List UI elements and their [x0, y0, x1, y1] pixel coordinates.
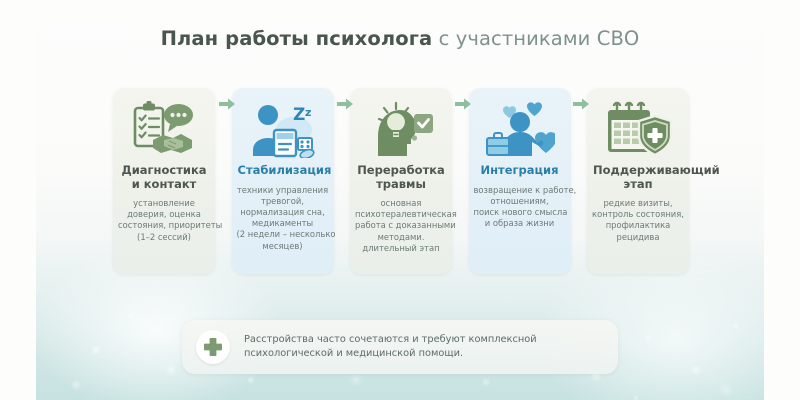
title-line: этап	[623, 177, 652, 191]
stage-card-row: Диагностика и контакт установление довер…	[113, 88, 689, 296]
desc-line: месяцев)	[237, 241, 329, 252]
desc-line: (2 недели – несколько	[237, 229, 329, 240]
svg-text:z: z	[305, 106, 311, 119]
desc-line: рецидива	[592, 232, 684, 243]
title-line: Диагностика	[121, 163, 206, 177]
title-line: и контакт	[132, 177, 197, 191]
desc-line: установление	[118, 198, 210, 209]
title-line: Поддерживающий	[593, 163, 720, 177]
desc-line: методами.	[355, 232, 447, 243]
title-line: Стабилизация	[238, 163, 332, 177]
calendar-shield-cross-icon	[591, 98, 685, 160]
stage-card-integraciya[interactable]: Интеграция возвращение к работе, отношен…	[469, 88, 571, 274]
page-title-light: с участниками СВО	[432, 27, 639, 50]
desc-line: работа с доказанными	[355, 220, 447, 231]
stage-card-description: установление доверия, оценка состояния, …	[117, 198, 211, 243]
desc-line: длительный этап	[355, 243, 447, 254]
title-line: Интеграция	[480, 163, 558, 177]
desc-line: отношениям,	[474, 196, 566, 207]
head-lightbulb-check-icon	[354, 98, 448, 160]
stage-card-description: техники управления тревогой, нормализаци…	[236, 185, 330, 252]
desc-line: состояния, приоритеты	[118, 220, 210, 231]
desc-line: и образа жизни	[474, 218, 566, 229]
title-line: Переработка	[357, 163, 445, 177]
desc-line: основная	[355, 198, 447, 209]
stage-card-title: Переработка травмы	[354, 164, 448, 191]
infographic-canvas: План работы психолога с участниками СВО	[0, 0, 800, 400]
arrow-right-icon	[337, 98, 353, 110]
stage-card-podderzhivayushchiy-etap[interactable]: Поддерживающий этап редкие визиты, контр…	[587, 88, 689, 274]
stage-card-stabilizaciya[interactable]: Z z	[232, 88, 334, 274]
stage-card-title: Интеграция	[473, 164, 567, 178]
desc-line: нормализация сна,	[237, 207, 329, 218]
person-hearts-briefcase-icon	[473, 98, 567, 160]
svg-text:Z: Z	[293, 105, 305, 125]
footer-note-text: Расстройства часто сочетаются и требуют …	[244, 333, 537, 362]
stage-card-title: Стабилизация	[236, 164, 330, 178]
desc-line: техники управления	[237, 185, 329, 196]
page-title-strong: План работы психолога	[161, 27, 433, 50]
page-title: План работы психолога с участниками СВО	[0, 27, 800, 50]
banner-line: Расстройства часто сочетаются и требуют …	[244, 333, 537, 348]
footer-note-banner: Расстройства часто сочетаются и требуют …	[182, 320, 618, 374]
person-sleep-medication-icon: Z z	[236, 98, 330, 160]
title-line: травмы	[376, 177, 426, 191]
stage-card-description: основная психотералевтическая работа с д…	[354, 198, 448, 254]
desc-line: медикаменты	[237, 218, 329, 229]
desc-line: возвращение к работе,	[474, 185, 566, 196]
stage-card-description: возвращение к работе, отношениям, поиск …	[473, 185, 567, 230]
desc-line: доверия, оценка	[118, 209, 210, 220]
desc-line: тревогой,	[237, 196, 329, 207]
arrow-right-icon	[455, 98, 471, 110]
arrow-right-icon	[219, 98, 235, 110]
stage-card-title: Поддерживающий этап	[591, 164, 685, 191]
desc-line: профилактика	[592, 220, 684, 231]
banner-line: психологической и медицинской помощи.	[244, 347, 537, 362]
stage-card-pererabotka-travmy[interactable]: Переработка травмы основная психотералев…	[350, 88, 452, 274]
stage-card-diagnostika[interactable]: Диагностика и контакт установление довер…	[113, 88, 215, 274]
clipboard-checklist-handshake-icon	[117, 98, 211, 160]
desc-line: (1–2 сессий)	[118, 232, 210, 243]
stage-card-title: Диагностика и контакт	[117, 164, 211, 191]
desc-line: психотералевтическая	[355, 209, 447, 220]
desc-line: контроль состояния,	[592, 209, 684, 220]
desc-line: редкие визиты,	[592, 198, 684, 209]
medical-cross-icon	[196, 330, 230, 364]
arrow-right-icon	[573, 98, 589, 110]
stage-card-description: редкие визиты, контроль состояния, профи…	[591, 198, 685, 243]
desc-line: поиск нового смысла	[474, 207, 566, 218]
